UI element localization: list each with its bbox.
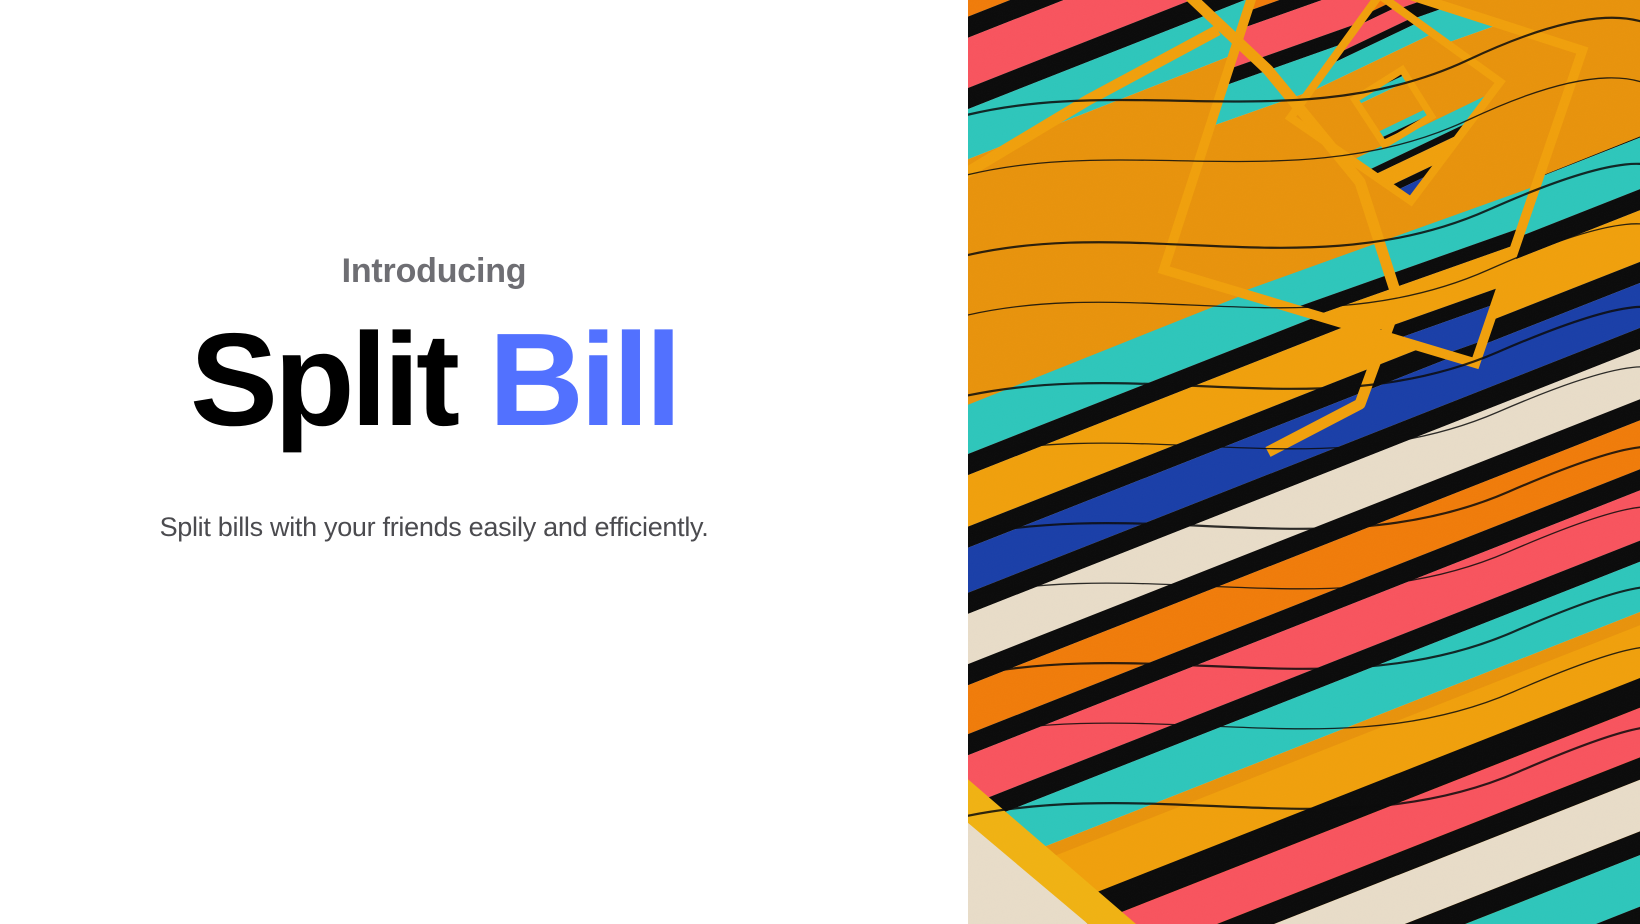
hero-artwork-panel (968, 0, 1640, 924)
hero-copy-block: Introducing Split Bill Split bills with … (0, 252, 868, 545)
hero-subtitle: Split bills with your friends easily and… (0, 510, 868, 545)
artwork-grain-overlay (968, 0, 1640, 924)
abstract-striped-spiral-artwork (968, 0, 1640, 924)
landing-page: Introducing Split Bill Split bills with … (0, 0, 1640, 924)
hero-text-panel: Introducing Split Bill Split bills with … (0, 0, 968, 924)
hero-eyebrow: Introducing (0, 252, 868, 291)
page-title-word-primary: Split (190, 306, 456, 453)
page-title-space (456, 306, 489, 453)
page-title-word-accent: Bill (489, 306, 678, 453)
page-title: Split Bill (0, 313, 868, 448)
